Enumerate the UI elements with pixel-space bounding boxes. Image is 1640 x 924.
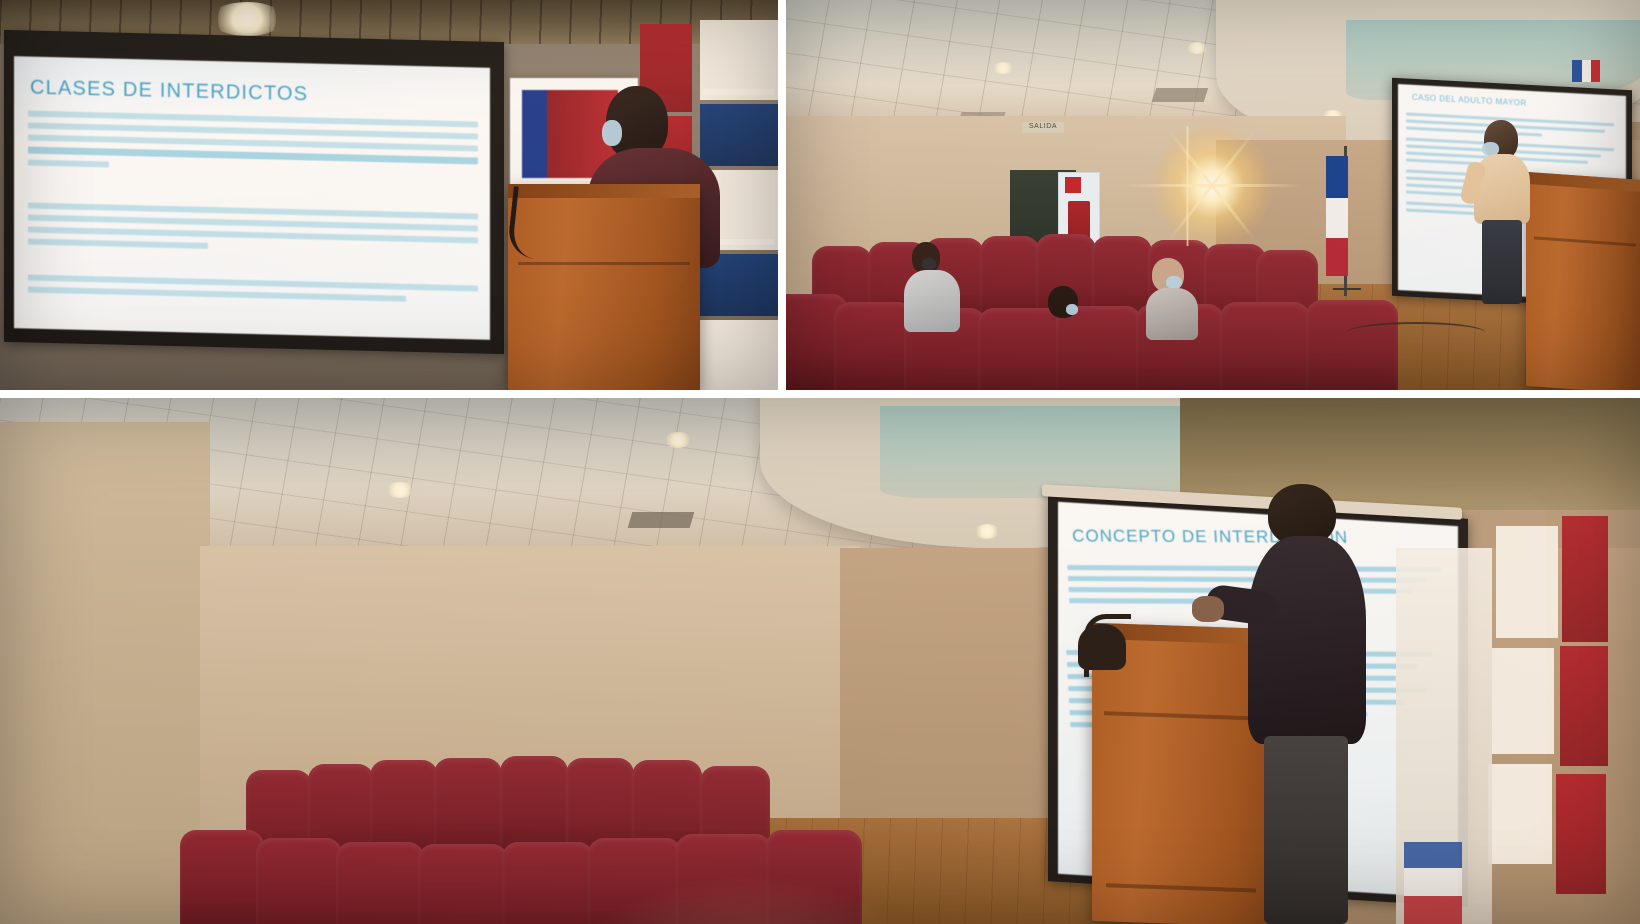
ceiling-vent-2 [628, 512, 695, 528]
wall-poster-1 [1496, 526, 1558, 638]
wall-poster-5 [1488, 764, 1552, 864]
photo-top-right: SALIDA CASO DEL ADULTO MAYOR [786, 0, 1640, 390]
speaker-legs [1482, 220, 1522, 304]
speaker-with-face-mask [1462, 120, 1548, 310]
floor-cable [1346, 322, 1486, 344]
flag-blue-canton [1326, 156, 1348, 198]
seat [336, 842, 424, 924]
ceiling-downlight-1 [992, 62, 1014, 74]
attendee-with-face-mask-1 [904, 242, 964, 338]
wall-poster-6 [1556, 774, 1606, 894]
seat [256, 838, 342, 924]
seat [434, 758, 502, 856]
wall-poster-4 [1560, 646, 1608, 766]
ceiling-downlight-3 [664, 432, 692, 448]
attendee-with-face-mask-2 [1042, 286, 1094, 366]
slide-title: CASO DEL ADULTO MAYOR [1412, 93, 1527, 108]
attendee-torso [904, 270, 960, 332]
attendee-face-mask [922, 258, 936, 270]
extinguisher-label [1065, 177, 1081, 193]
seat [418, 844, 508, 924]
gutter-vertical [778, 0, 786, 390]
presenter-legs [1264, 736, 1348, 924]
wall-poster-6 [700, 320, 778, 390]
attendee-with-face-mask-3 [1144, 258, 1200, 342]
seat [1306, 300, 1398, 390]
photo-top-left: CLASES DE INTERDICTOS C [0, 0, 778, 390]
lectern-seam [1534, 236, 1636, 246]
ceiling-vent [1152, 88, 1209, 102]
light-haze [560, 868, 980, 924]
presenter-face-mask [602, 120, 622, 146]
ceiling-downlight-4 [974, 524, 1000, 539]
wall-poster-2 [1562, 516, 1608, 642]
lectern-seam-2 [1106, 883, 1256, 892]
presenter-hand [1192, 596, 1224, 622]
seat [180, 830, 264, 924]
gutter-horizontal [0, 390, 1640, 398]
attendee-torso [1146, 288, 1198, 340]
seat [1220, 302, 1310, 390]
seated-person-behind-lectern [1078, 624, 1126, 670]
side-banner-flag [1404, 842, 1462, 924]
seat [500, 756, 568, 854]
slide-body-block-1 [28, 105, 478, 183]
ceiling-downlight-1 [386, 482, 414, 498]
slide-body-block-2 [28, 197, 478, 262]
presenter-torso [1248, 536, 1366, 744]
exit-sign: SALIDA [1022, 122, 1064, 133]
slide-body-block-3 [28, 269, 478, 310]
ceiling-light [210, 2, 284, 36]
photo-collage: CLASES DE INTERDICTOS C [0, 0, 1640, 924]
lens-flare-ray [1186, 126, 1189, 246]
photo-bottom: CONCEPTO DE INTERDICCIÓN [0, 398, 1640, 924]
attendee-face-mask [1066, 304, 1078, 315]
seat [834, 302, 914, 390]
wall-poster-3 [1492, 648, 1554, 754]
presenter-standing [1246, 484, 1374, 924]
lectern-seam [518, 262, 690, 265]
projection-screen: CLASES DE INTERDICTOS [14, 56, 490, 340]
slide-title: CLASES DE INTERDICTOS [30, 77, 308, 107]
screen-flag-emblem [1572, 60, 1600, 82]
lectern-seam [1104, 711, 1264, 721]
auditorium-seats [786, 216, 1406, 390]
ceiling-downlight-3 [1186, 42, 1208, 54]
